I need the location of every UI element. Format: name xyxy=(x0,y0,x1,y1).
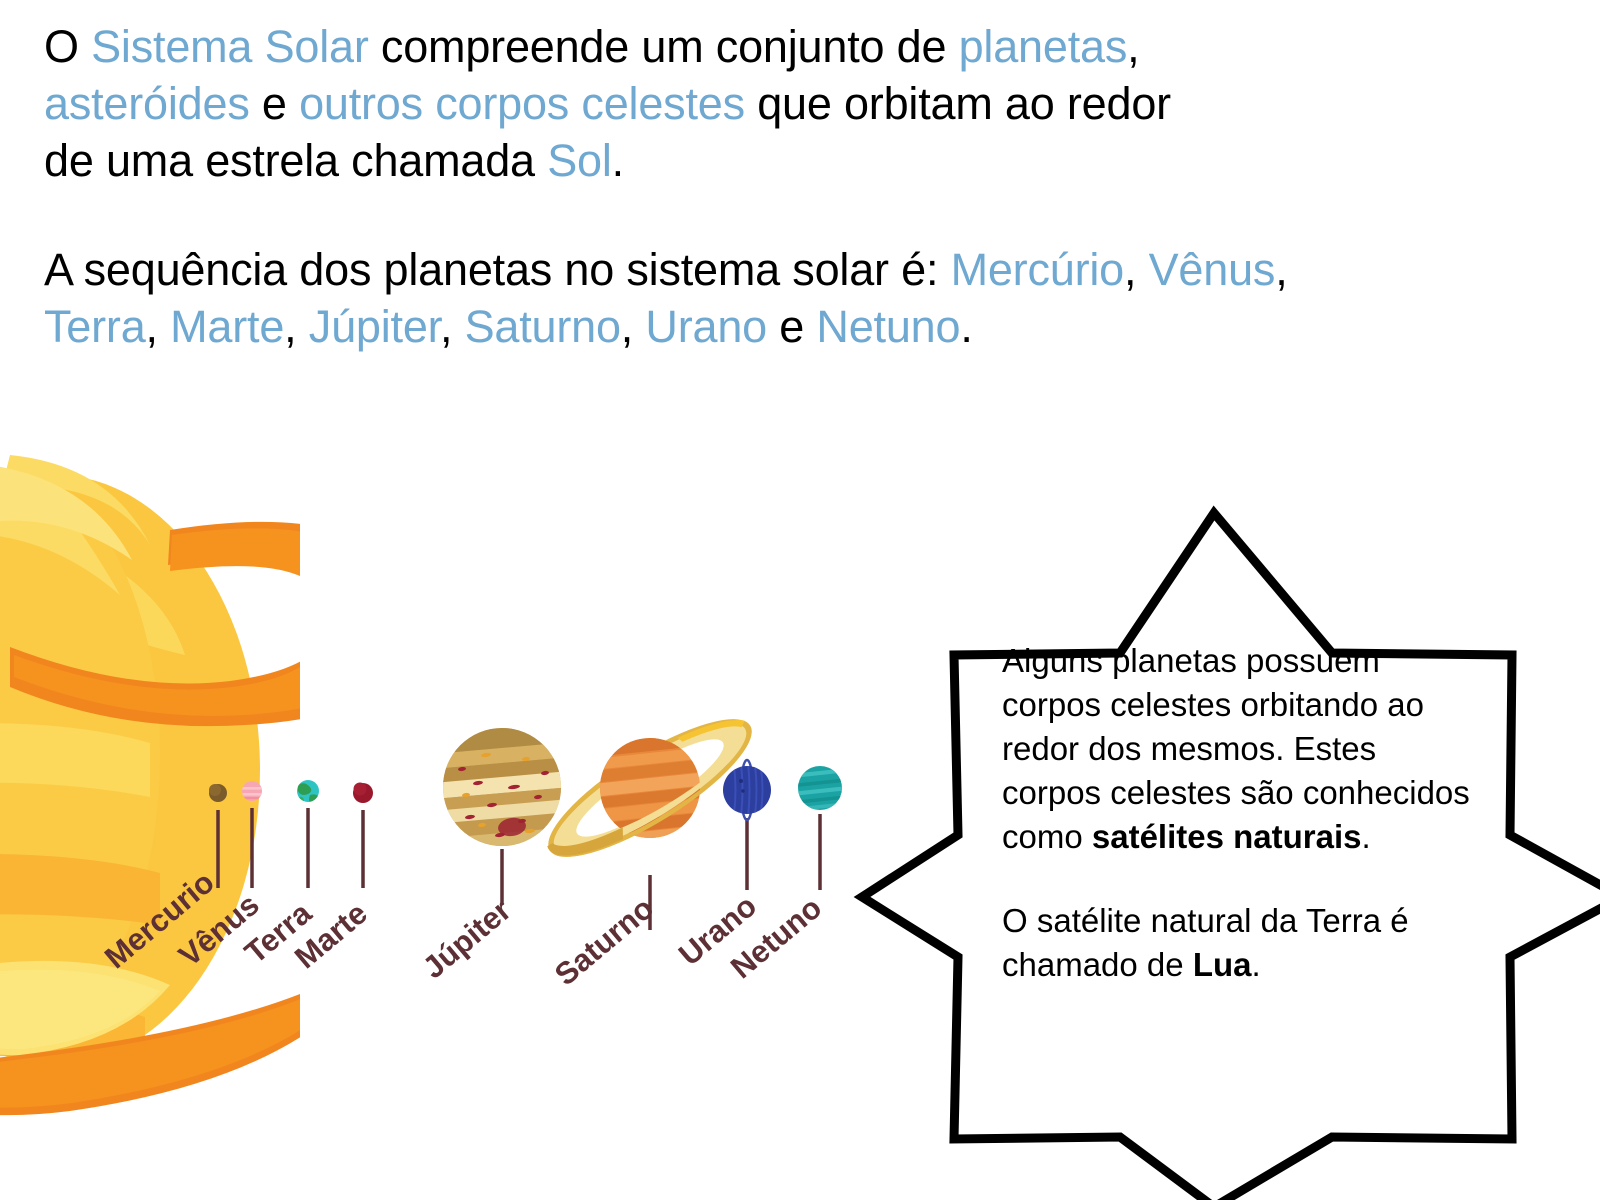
body-text: , xyxy=(146,301,171,352)
highlighted-term: Saturno xyxy=(465,301,621,352)
highlighted-term: Vênus xyxy=(1149,244,1276,295)
callout-body-text: . xyxy=(1362,818,1371,855)
planet-jupiter-body xyxy=(439,722,568,855)
slide-canvas: O Sistema Solar compreende um conjunto d… xyxy=(0,0,1600,1200)
highlighted-term: asteróides xyxy=(44,78,250,129)
body-text: , xyxy=(284,301,309,352)
sun-graphic xyxy=(0,455,416,1115)
callout-text: Alguns planetas possuem corpos celestes … xyxy=(1002,639,1472,987)
callout-block-2: O satélite natural da Terra é chamado de… xyxy=(1002,899,1472,987)
body-text: , xyxy=(1275,244,1287,295)
emphasis-term: Lua xyxy=(1193,946,1252,983)
highlighted-term: Urano xyxy=(645,301,767,352)
body-text: . xyxy=(612,135,624,186)
planet-terra-body xyxy=(297,780,319,803)
body-text: A sequência dos planetas no sistema sola… xyxy=(44,244,951,295)
body-text: . xyxy=(960,301,972,352)
callout-body-text: . xyxy=(1251,946,1260,983)
body-text: O xyxy=(44,21,91,72)
highlighted-term: Terra xyxy=(44,301,146,352)
planet-netuno-body xyxy=(796,766,846,811)
body-text: , xyxy=(1124,244,1149,295)
satellite-callout: Alguns planetas possuem corpos celestes … xyxy=(862,505,1600,1200)
highlighted-term: Júpiter xyxy=(309,301,440,352)
body-text: e xyxy=(250,78,299,129)
body-text: e xyxy=(767,301,816,352)
body-text: compreende um conjunto de xyxy=(369,21,959,72)
highlighted-term: Sistema Solar xyxy=(91,21,369,72)
highlighted-term: Sol xyxy=(547,135,611,186)
label-saturno: Saturno xyxy=(548,890,660,992)
callout-block-1: Alguns planetas possuem corpos celestes … xyxy=(1002,639,1472,859)
planet-mercurio-body xyxy=(209,784,227,802)
highlighted-term: outros corpos celestes xyxy=(299,78,745,129)
body-text: , xyxy=(1127,21,1139,72)
text-block: O Sistema Solar compreende um conjunto d… xyxy=(44,18,1600,355)
highlighted-term: Mercúrio xyxy=(951,244,1124,295)
highlighted-term: planetas xyxy=(959,21,1128,72)
paragraph-sequence: A sequência dos planetas no sistema sola… xyxy=(44,241,1600,355)
highlighted-term: Netuno xyxy=(816,301,960,352)
planet-urano-body xyxy=(723,760,771,820)
body-text: , xyxy=(621,301,646,352)
highlighted-term: Marte xyxy=(170,301,284,352)
planet-marte-body xyxy=(353,783,373,804)
label-jupiter: Júpiter xyxy=(416,892,518,985)
paragraph-intro: O Sistema Solar compreende um conjunto d… xyxy=(44,18,1600,189)
emphasis-term: satélites naturais xyxy=(1092,818,1362,855)
body-text: , xyxy=(440,301,465,352)
planet-labels: Mercurio Vênus Terra Marte Júpiter Satur… xyxy=(98,864,828,992)
callout-spacer xyxy=(1002,859,1472,899)
